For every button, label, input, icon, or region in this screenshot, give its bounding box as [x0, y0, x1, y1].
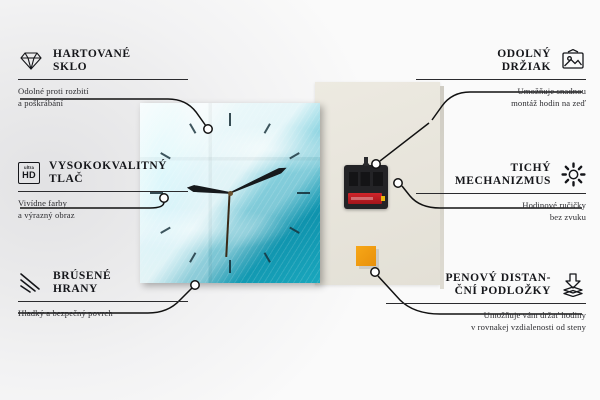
feature-title-line1: PENOVÝ DISTAN-: [445, 272, 551, 285]
feature-title-line2: ČNÍ PODLOŽKY: [445, 285, 551, 298]
feature-desc-line1: Hladký a bezpečný povrch: [18, 307, 188, 319]
clock-center-cap: [228, 191, 233, 196]
diamond-icon: [18, 49, 44, 73]
feature-desc-line1: Odolné proti rozbití: [18, 85, 188, 97]
foam-spacer-icon: [560, 273, 586, 297]
battery: [348, 193, 382, 204]
feature-tempered-glass: HARTOVANÉ SKLO Odolné proti rozbití a po…: [18, 48, 188, 109]
infographic-canvas: HARTOVANÉ SKLO Odolné proti rozbití a po…: [0, 0, 600, 400]
feature-divider: [18, 191, 188, 192]
feature-foam-spacers: PENOVÝ DISTAN- ČNÍ PODLOŽKY Umožňuje vám…: [386, 272, 586, 333]
feature-silent-mechanism: TICHÝ MECHANIZMUS Hodinové ručičky bez z…: [416, 162, 586, 223]
feature-title-line2: TLAČ: [49, 173, 167, 186]
feature-desc-line2: bez zvuku: [416, 211, 586, 223]
feature-durable-hanger: ODOLNÝ DRŽIAK Umožňuje snadnou montáž ho…: [416, 48, 586, 109]
clock-tick: [229, 113, 231, 193]
feature-beveled-edges: BRÚSENÉ HRANY Hladký a bezpečný povrch: [18, 270, 188, 319]
feature-divider: [386, 303, 586, 304]
feature-divider: [18, 79, 188, 80]
clock-tick: [230, 192, 310, 194]
feature-title-line1: VYSOKOKVALITNÝ: [49, 160, 167, 173]
feature-desc-line2: v rovnakej vzdialenosti od steny: [386, 321, 586, 333]
mechanism-shaft: [364, 157, 368, 166]
feature-title-line2: HRANY: [53, 283, 111, 296]
ultra-hd-icon: ultra HD: [18, 162, 40, 184]
clock-mechanism: [344, 165, 388, 209]
mechanism-slots: [349, 172, 383, 186]
feature-title-line1: ODOLNÝ: [497, 48, 551, 61]
foam-spacer-pad: [356, 246, 376, 266]
feature-high-quality-print: ultra HD VYSOKOKVALITNÝ TLAČ Vivídne far…: [18, 160, 188, 221]
feature-desc-line1: Vivídne farby: [18, 197, 188, 209]
feature-desc-line1: Hodinové ručičky: [416, 199, 586, 211]
beveled-edges-icon: [18, 271, 44, 295]
ultra-hd-icon-large-text: HD: [22, 171, 36, 180]
feature-desc-line2: montáž hodin na zeď: [416, 97, 586, 109]
feature-divider: [416, 79, 586, 80]
feature-desc-line2: a výrazný obraz: [18, 209, 188, 221]
gear-icon: [560, 163, 586, 187]
feature-divider: [416, 193, 586, 194]
feature-title-line1: HARTOVANÉ: [53, 48, 131, 61]
feature-desc-line1: Umožňuje snadnou: [416, 85, 586, 97]
feature-desc-line2: a poškrábání: [18, 97, 188, 109]
feature-title-line2: DRŽIAK: [497, 61, 551, 74]
picture-hanger-icon: [560, 49, 586, 73]
feature-title-line1: TICHÝ: [455, 162, 551, 175]
feature-title-line2: MECHANIZMUS: [455, 175, 551, 188]
feature-divider: [18, 301, 188, 302]
feature-title-line2: SKLO: [53, 61, 131, 74]
feature-desc-line1: Umožňuje vám držať hodiny: [386, 309, 586, 321]
feature-title-line1: BRÚSENÉ: [53, 270, 111, 283]
